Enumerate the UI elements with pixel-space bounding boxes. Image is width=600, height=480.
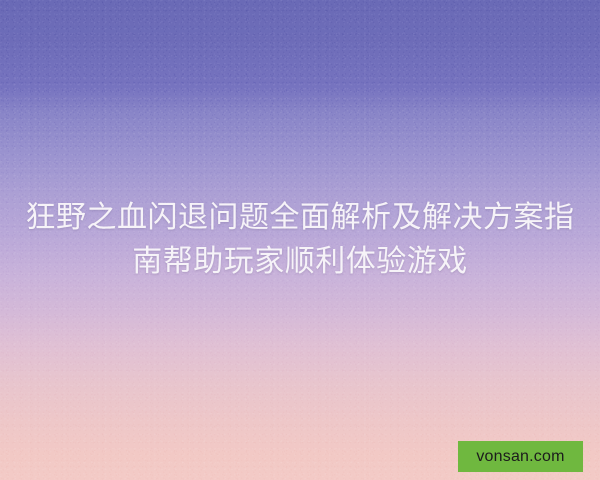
article-cover-card: 狂野之血闪退问题全面解析及解决方案指南帮助玩家顺利体验游戏 vonsan.com [0, 0, 600, 480]
page-title: 狂野之血闪退问题全面解析及解决方案指南帮助玩家顺利体验游戏 [12, 196, 588, 284]
watermark-label: vonsan.com [476, 449, 564, 465]
watermark-badge[interactable]: vonsan.com [458, 441, 583, 472]
headline-container: 狂野之血闪退问题全面解析及解决方案指南帮助玩家顺利体验游戏 [0, 0, 600, 480]
